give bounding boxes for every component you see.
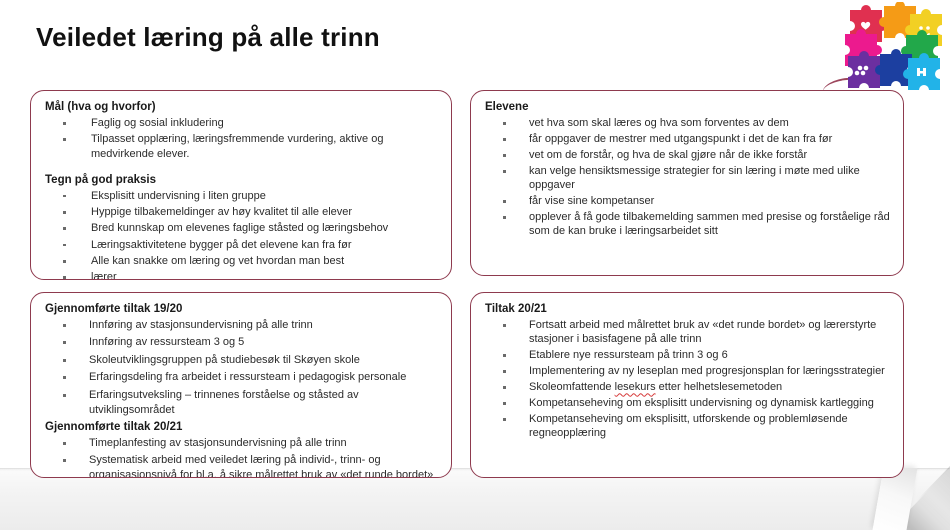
- list-item: Innføring av stasjonsundervisning på all…: [45, 318, 439, 333]
- list-item: Timeplanfesting av stasjonsundervisning …: [45, 436, 439, 451]
- slide-canvas: Veiledet læring på alle trinn: [0, 0, 950, 530]
- box-tiltak-list: Fortsatt arbeid med målrettet bruk av «d…: [485, 318, 891, 441]
- list-item: lærer: [45, 270, 439, 280]
- list-item: Innføring av ressursteam 3 og 5: [45, 335, 439, 350]
- list-item: Alle kan snakke om læring og vet hvordan…: [45, 254, 439, 268]
- list-item: Kompetanseheving om eksplisitt, utforske…: [485, 412, 891, 440]
- puzzle-pieces-logo: [832, 2, 944, 90]
- box-elevene: Elevene vet hva som skal læres og hva so…: [470, 90, 904, 276]
- box-gjennomforte-list-1: Innføring av stasjonsundervisning på all…: [45, 318, 439, 417]
- list-item: Fortsatt arbeid med målrettet bruk av «d…: [485, 318, 891, 346]
- list-item: Bred kunnskap om elevenes faglige ståste…: [45, 221, 439, 235]
- box-gjennomforte-list-2: Timeplanfesting av stasjonsundervisning …: [45, 436, 439, 478]
- list-item: vet om de forstår, og hva de skal gjøre …: [485, 148, 891, 162]
- box-mal-heading-1: Mål (hva og hvorfor): [45, 100, 439, 115]
- box-tiltak-2021: Tiltak 20/21 Fortsatt arbeid med målrett…: [470, 292, 904, 478]
- list-item: Skoleomfattende lesekurs etter helhetsle…: [485, 380, 891, 394]
- box-mal-heading-2: Tegn på god praksis: [45, 173, 439, 188]
- list-item: Erfaringsutveksling – trinnenes forståel…: [45, 388, 439, 417]
- list-item: Skoleutviklingsgruppen på studiebesøk ti…: [45, 353, 439, 368]
- puzzle-piece-cyan: [903, 53, 940, 90]
- list-item: Kompetanseheving om eksplisitt undervisn…: [485, 396, 891, 410]
- list-item: Etablere nye ressursteam på trinn 3 og 6: [485, 348, 891, 362]
- list-item: vet hva som skal læres og hva som forven…: [485, 116, 891, 130]
- box-elevene-list: vet hva som skal læres og hva som forven…: [485, 116, 891, 239]
- page-title: Veiledet læring på alle trinn: [36, 22, 380, 53]
- list-item: Systematisk arbeid med veiledet læring p…: [45, 453, 439, 478]
- list-item: Erfaringsdeling fra arbeidet i ressurste…: [45, 370, 439, 385]
- box-gjennomforte-tiltak: Gjennomførte tiltak 19/20 Innføring av s…: [30, 292, 452, 478]
- list-item: Tilpasset opplæring, læringsfremmende vu…: [45, 132, 439, 161]
- list-item: kan velge hensiktsmessige strategier for…: [485, 164, 891, 192]
- misspelled-word: lesekurs: [615, 381, 656, 393]
- box-gjennomforte-heading-1: Gjennomførte tiltak 19/20: [45, 302, 439, 317]
- list-item: Hyppige tilbakemeldinger av høy kvalitet…: [45, 205, 439, 219]
- list-item: Eksplisitt undervisning i liten gruppe: [45, 189, 439, 203]
- box-elevene-heading: Elevene: [485, 100, 891, 115]
- box-mal-list-2: Eksplisitt undervisning i liten gruppe H…: [45, 189, 439, 280]
- box-mal-list-1: Faglig og sosial inkludering Tilpasset o…: [45, 116, 439, 161]
- box-gjennomforte-heading-2: Gjennomførte tiltak 20/21: [45, 420, 439, 435]
- puzzle-piece-blue: [875, 49, 912, 86]
- list-item: får vise sine kompetanser: [485, 194, 891, 208]
- box-mal: Mål (hva og hvorfor) Faglig og sosial in…: [30, 90, 452, 280]
- box-tiltak-heading: Tiltak 20/21: [485, 302, 891, 317]
- list-item: opplever å få gode tilbakemelding sammen…: [485, 210, 891, 238]
- list-item: Implementering av ny leseplan med progre…: [485, 364, 891, 378]
- list-item: Læringsaktivitetene bygger på det eleven…: [45, 238, 439, 252]
- list-item: får oppgaver de mestrer med utgangspunkt…: [485, 132, 891, 146]
- list-item: Faglig og sosial inkludering: [45, 116, 439, 130]
